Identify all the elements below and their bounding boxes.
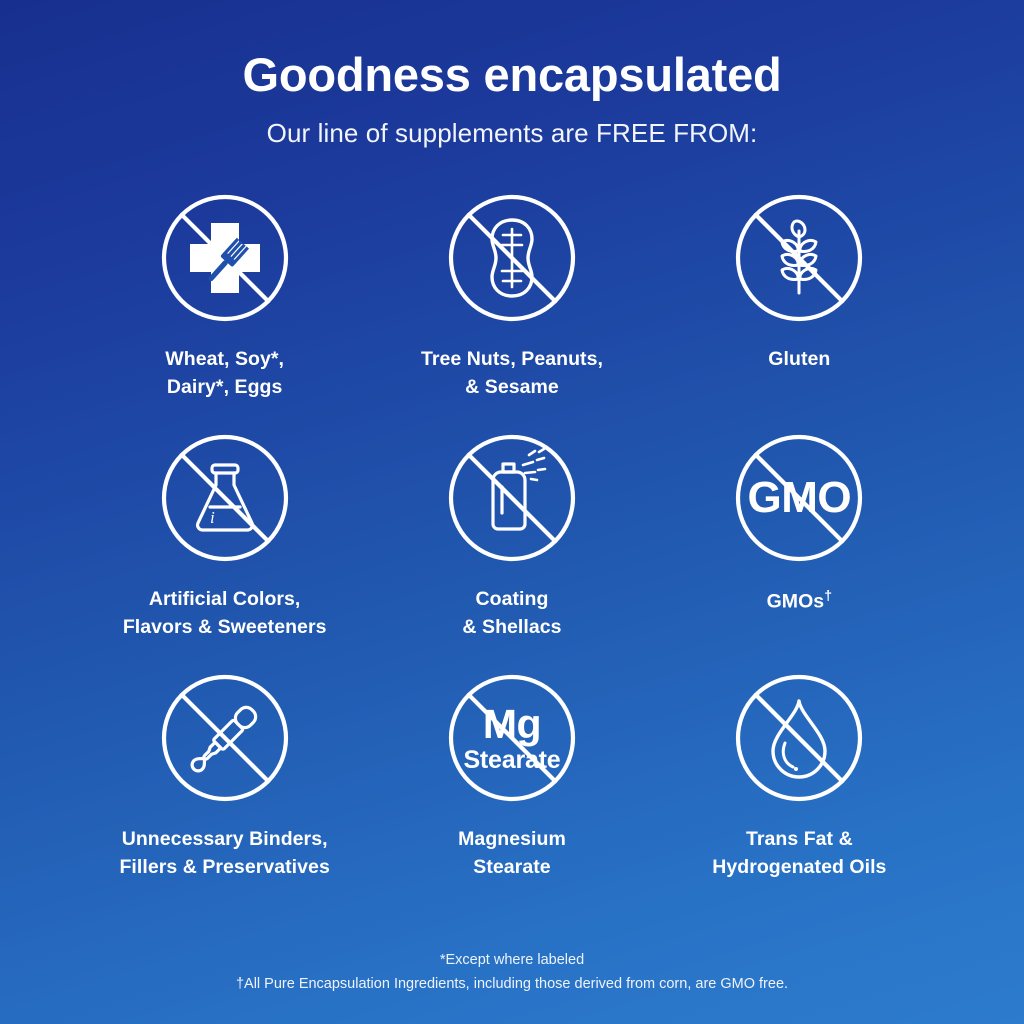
footnotes: *Except where labeled †All Pure Encapsul… bbox=[0, 949, 1024, 996]
no-oil-droplet-icon bbox=[732, 671, 866, 805]
item-caption: Unnecessary Binders, Fillers & Preservat… bbox=[119, 826, 329, 881]
no-allergens-fork-cross-icon bbox=[158, 191, 292, 325]
item-caption: Tree Nuts, Peanuts, & Sesame bbox=[421, 346, 603, 401]
free-from-item-trans-fat: Trans Fat & Hydrogenated Oils bbox=[656, 671, 943, 911]
free-from-item-gluten: Gluten bbox=[656, 191, 943, 431]
no-gmo-icon: GMO bbox=[732, 431, 866, 565]
footnote-asterisk: *Except where labeled bbox=[0, 949, 1024, 972]
free-from-item-gmo: GMO GMOs† bbox=[656, 431, 943, 671]
free-from-grid: Wheat, Soy*, Dairy*, Eggs bbox=[81, 191, 943, 911]
free-from-item-coating: Coating & Shellacs bbox=[368, 431, 655, 671]
free-from-item-nuts: Tree Nuts, Peanuts, & Sesame bbox=[368, 191, 655, 431]
header: Goodness encapsulated Our line of supple… bbox=[0, 0, 1024, 149]
free-from-item-binders: Unnecessary Binders, Fillers & Preservat… bbox=[81, 671, 368, 911]
item-caption: GMOs† bbox=[767, 586, 832, 616]
free-from-item-magnesium-stearate: Mg Stearate Magnesium Stearate bbox=[368, 671, 655, 911]
item-caption: Wheat, Soy*, Dairy*, Eggs bbox=[165, 346, 284, 401]
svg-text:i: i bbox=[210, 508, 215, 527]
item-caption: Coating & Shellacs bbox=[462, 586, 561, 641]
no-wheat-gluten-icon bbox=[732, 191, 866, 325]
footnote-dagger: †All Pure Encapsulation Ingredients, inc… bbox=[0, 973, 1024, 996]
infographic-page: Goodness encapsulated Our line of supple… bbox=[0, 0, 1024, 1024]
free-from-item-artificial: i Artificial Colors, Flavors & Sweetener… bbox=[81, 431, 368, 671]
no-flask-artificial-icon: i bbox=[158, 431, 292, 565]
no-spray-can-icon bbox=[445, 431, 579, 565]
item-caption: Artificial Colors, Flavors & Sweeteners bbox=[123, 586, 327, 641]
item-caption: Magnesium Stearate bbox=[458, 826, 566, 881]
no-peanut-icon bbox=[445, 191, 579, 325]
item-caption: Gluten bbox=[768, 346, 830, 374]
no-dropper-pipette-icon bbox=[158, 671, 292, 805]
page-subtitle: Our line of supplements are FREE FROM: bbox=[0, 118, 1024, 149]
no-magnesium-stearate-icon: Mg Stearate bbox=[445, 671, 579, 805]
item-caption: Trans Fat & Hydrogenated Oils bbox=[712, 826, 886, 881]
free-from-item-allergens: Wheat, Soy*, Dairy*, Eggs bbox=[81, 191, 368, 431]
page-title: Goodness encapsulated bbox=[0, 50, 1024, 99]
dagger-footnote-marker: † bbox=[824, 587, 832, 603]
